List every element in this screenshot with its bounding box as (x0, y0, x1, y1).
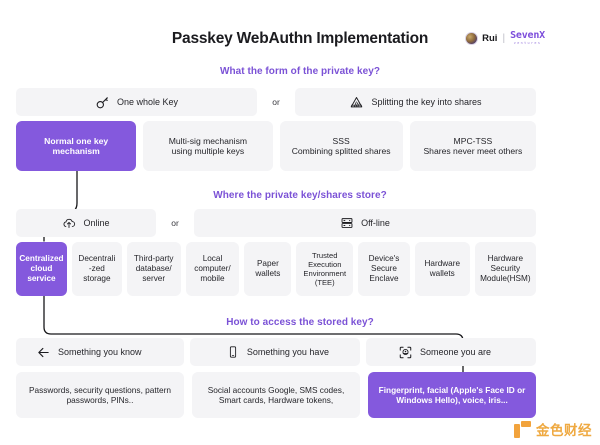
band-access-know-text: Something you know (58, 347, 142, 357)
band-access-are-text: Someone you are (420, 347, 491, 357)
band-store-left-label: Online (62, 216, 109, 230)
band-store: Online or Off-line (16, 209, 536, 237)
band-store-left[interactable]: Online (16, 209, 156, 237)
card-multi-sig[interactable]: Multi-sig mechanism using multiple keys (143, 121, 272, 171)
cards-store: Centralized cloud service Decentrali -ze… (16, 242, 536, 296)
section-question-form: What the form of the private key? (0, 66, 600, 77)
card-biometrics[interactable]: Fingerprint, facial (Apple's Face ID or … (368, 372, 536, 418)
band-form-right-text: Splitting the key into shares (371, 97, 481, 107)
card-line: Multi-sig mechanism (169, 136, 247, 146)
card-line: Shares never meet others (423, 146, 522, 156)
avatar-icon (465, 32, 478, 45)
page-title: Passkey WebAuthn Implementation (172, 30, 428, 48)
card-line: Secure (371, 264, 397, 274)
card-line: SSS (333, 136, 350, 146)
arrow-left-icon (36, 345, 51, 360)
card-line: Social accounts Google, SMS codes, (208, 385, 345, 395)
card-paper-wallets[interactable]: Paper wallets (244, 242, 291, 296)
band-form-or: or (257, 97, 295, 107)
band-store-or: or (156, 218, 194, 228)
cards-form: Normal one key mechanism Multi-sig mecha… (16, 121, 536, 171)
card-line: database/ (136, 264, 172, 274)
band-form-left-text: One whole Key (117, 97, 178, 107)
brand-credit: Rui | SevenX ventures (465, 29, 545, 47)
card-line: Device's (369, 254, 400, 264)
brand-logo-sub: ventures (514, 42, 542, 45)
band-access-are[interactable]: Someone you are (366, 338, 536, 366)
card-line: Hardware (425, 259, 461, 269)
card-line: Trusted (312, 251, 337, 260)
band-form: One whole Key or Splitting the key into … (16, 88, 536, 116)
card-line: -zed (89, 264, 105, 274)
card-line: passwords, PINs.. (67, 395, 134, 405)
jinse-logo-icon (514, 421, 531, 438)
card-line: Windows Hello), voice, iris... (396, 395, 508, 405)
card-hardware-wallets[interactable]: Hardware wallets (415, 242, 470, 296)
card-line: Enclave (369, 274, 398, 284)
card-sss[interactable]: SSS Combining splitted shares (280, 121, 403, 171)
band-access-are-label: Someone you are (398, 345, 491, 360)
card-line: Local (203, 254, 223, 264)
card-line: mobile (200, 274, 224, 284)
card-line: Third-party (134, 254, 174, 264)
brand-logo-main: SevenX (510, 31, 545, 41)
card-passwords[interactable]: Passwords, security questions, pattern p… (16, 372, 184, 418)
band-store-right-text: Off-line (361, 218, 390, 228)
cloud-upload-icon (62, 216, 76, 230)
band-access-know-label: Something you know (36, 345, 142, 360)
card-mpc-tss[interactable]: MPC-TSS Shares never meet others (410, 121, 536, 171)
band-form-right-label: Splitting the key into shares (349, 95, 481, 110)
card-social-accounts[interactable]: Social accounts Google, SMS codes, Smart… (192, 372, 360, 418)
card-line: Combining splitted shares (292, 146, 391, 156)
split-shares-icon (349, 95, 364, 110)
card-line: Paper (257, 259, 279, 269)
band-form-left[interactable]: One whole Key (16, 88, 257, 116)
band-form-right[interactable]: Splitting the key into shares (295, 88, 536, 116)
band-access: Something you know Something you have (16, 338, 536, 366)
card-line: Module(HSM) (480, 274, 531, 284)
band-access-have-text: Something you have (247, 347, 329, 357)
band-store-left-text: Online (83, 218, 109, 228)
band-access-have[interactable]: Something you have (190, 338, 360, 366)
card-line: cloud (31, 264, 53, 274)
card-centralized-cloud-service[interactable]: Centralized cloud service (16, 242, 67, 296)
card-line: Centralized (19, 254, 63, 264)
card-normal-one-key[interactable]: Normal one key mechanism (16, 121, 136, 171)
card-line: service (27, 274, 55, 284)
face-scan-icon (398, 345, 413, 360)
section-question-access: How to access the stored key? (0, 317, 600, 328)
card-line: wallets (430, 269, 455, 279)
card-line: using multiple keys (172, 146, 245, 156)
band-access-have-label: Something you have (226, 345, 329, 359)
card-line: Fingerprint, facial (Apple's Face ID or (379, 385, 526, 395)
band-form-left-label: One whole Key (95, 95, 178, 110)
card-line: Normal one key (44, 136, 108, 146)
card-line: Smart cards, Hardware tokens, (219, 395, 333, 405)
band-store-right-label: Off-line (340, 216, 390, 230)
card-decentralized-storage[interactable]: Decentrali -zed storage (72, 242, 122, 296)
band-access-know[interactable]: Something you know (16, 338, 184, 366)
card-hardware-security-module[interactable]: Hardware Security Module(HSM) (475, 242, 536, 296)
mobile-device-icon (226, 345, 240, 359)
infographic-page: Passkey WebAuthn Implementation Rui | Se… (0, 0, 600, 445)
card-line: Hardware (488, 254, 524, 264)
watermark-text: 金色财经 (536, 419, 592, 439)
card-line: Environment (303, 269, 346, 278)
server-icon (340, 216, 354, 230)
card-line: Passwords, security questions, pattern (29, 385, 171, 395)
card-line: computer/ (194, 264, 230, 274)
card-line: Security (491, 264, 521, 274)
card-line: mechanism (53, 146, 100, 156)
watermark: 金色财经 (514, 419, 592, 439)
card-trusted-execution-environment[interactable]: Trusted Execution Environment (TEE) (296, 242, 353, 296)
sevenx-logo: SevenX ventures (510, 31, 545, 45)
band-store-right[interactable]: Off-line (194, 209, 536, 237)
card-line: storage (83, 274, 110, 284)
card-line: Decentrali (78, 254, 115, 264)
card-line: MPC-TSS (454, 136, 493, 146)
card-line: Execution (308, 260, 341, 269)
card-line: server (142, 274, 165, 284)
card-line: (TEE) (315, 278, 335, 287)
cards-access: Passwords, security questions, pattern p… (16, 372, 536, 418)
brand-separator: | (502, 33, 505, 44)
card-device-secure-enclave[interactable]: Device's Secure Enclave (358, 242, 410, 296)
section-question-store: Where the private key/shares store? (0, 190, 600, 201)
card-local-computer-mobile[interactable]: Local computer/ mobile (186, 242, 240, 296)
brand-author: Rui (482, 33, 497, 44)
card-line: wallets (255, 269, 280, 279)
card-third-party-database[interactable]: Third-party database/ server (127, 242, 181, 296)
key-icon (95, 95, 110, 110)
